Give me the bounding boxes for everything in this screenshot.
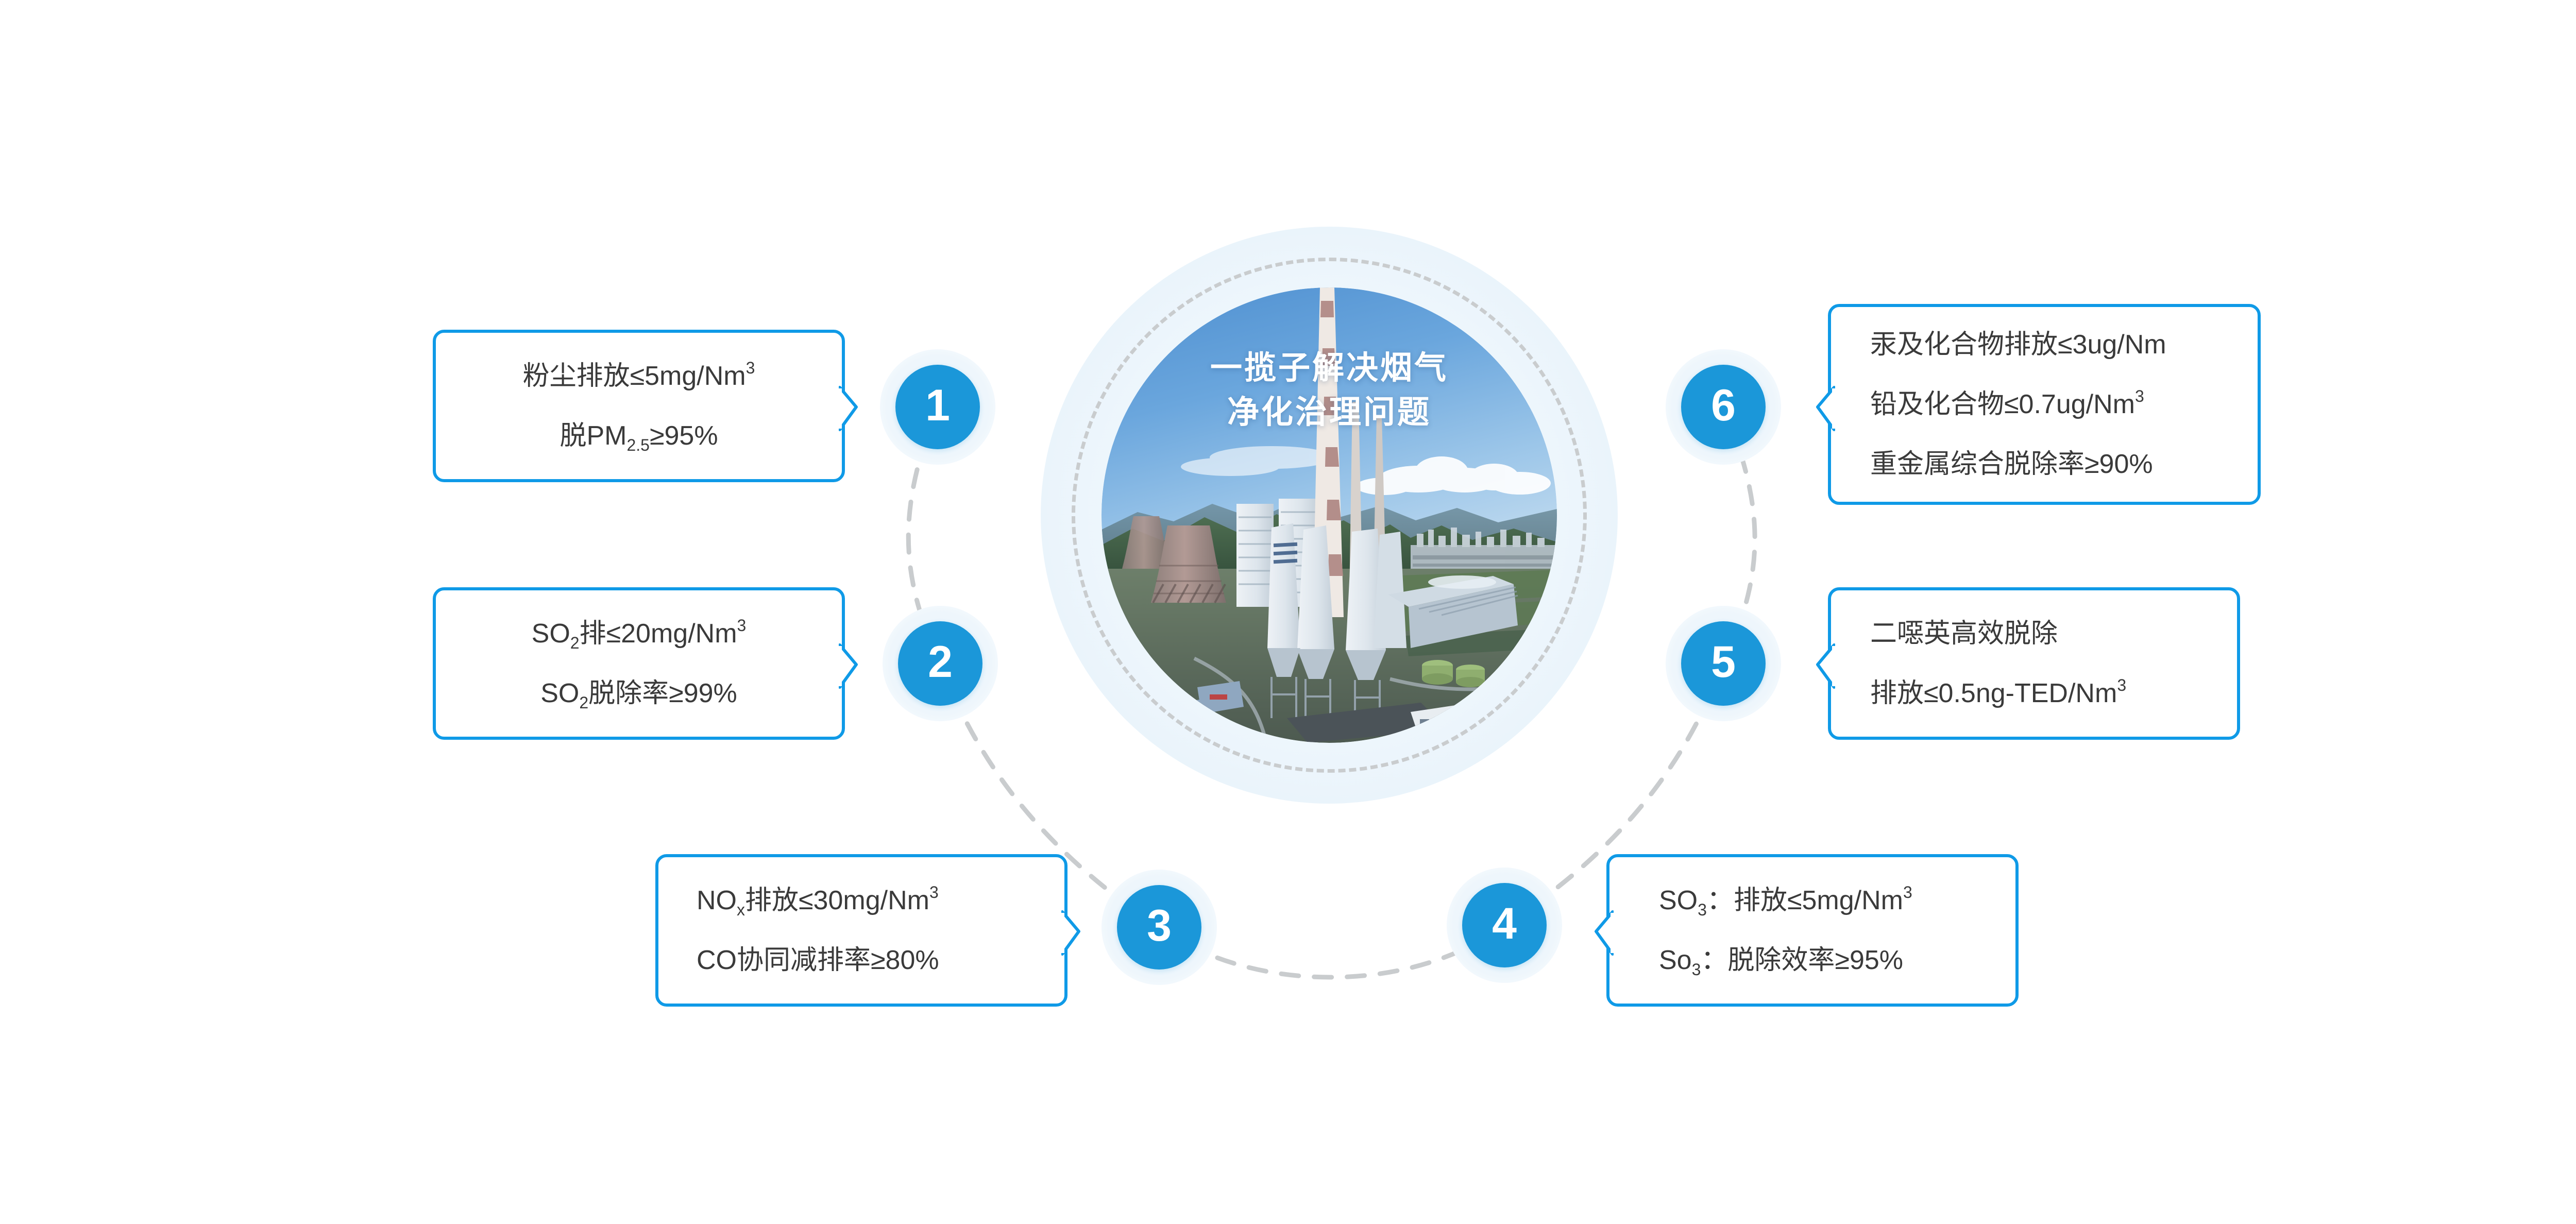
step-badge-6[interactable]: 6	[1666, 349, 1781, 465]
step-badge-1[interactable]: 1	[880, 349, 995, 465]
info-card-6-line-2: 铅及化合物≤0.7ug/Nm3	[1831, 391, 2258, 418]
info-card-5[interactable]: 二噁英高效脱除 排放≤0.5ng-TED/Nm3	[1828, 587, 2240, 740]
step-badge-3-number: 3	[1117, 885, 1201, 970]
info-card-1-line-1: 粉尘排放≤5mg/Nm3	[436, 363, 842, 389]
info-card-3-line-2: CO协同减排率≥80%	[658, 947, 1064, 974]
center-title-line-2: 净化治理问题	[1041, 390, 1618, 435]
info-card-1-notch	[839, 385, 861, 432]
step-badge-3[interactable]: 3	[1101, 870, 1217, 985]
info-card-6-notch	[1812, 385, 1835, 432]
center-title: 一揽子解决烟气 净化治理问题	[1041, 346, 1618, 434]
info-card-2-line-1: SO2排≤20mg/Nm3	[436, 620, 842, 647]
center-graphic: 一揽子解决烟气 净化治理问题	[1041, 227, 1618, 804]
info-card-4-notch	[1591, 910, 1614, 956]
info-card-5-line-1: 二噁英高效脱除	[1831, 620, 2237, 647]
info-card-3-line-1: NOx排放≤30mg/Nm3	[658, 887, 1064, 914]
info-card-2[interactable]: SO2排≤20mg/Nm3 SO2脱除率≥99%	[433, 587, 845, 740]
info-card-3[interactable]: NOx排放≤30mg/Nm3 CO协同减排率≥80%	[655, 854, 1067, 1007]
step-badge-2[interactable]: 2	[883, 606, 998, 721]
info-card-6[interactable]: 汞及化合物排放≤3ug/Nm 铅及化合物≤0.7ug/Nm3 重金属综合脱除率≥…	[1828, 304, 2261, 505]
info-card-6-line-3: 重金属综合脱除率≥90%	[1831, 451, 2258, 478]
info-card-2-line-2: SO2脱除率≥99%	[436, 680, 842, 707]
infographic-stage: 一揽子解决烟气 净化治理问题 1 2 3 4 5 6 粉尘排放≤5mg/Nm3 …	[0, 0, 2576, 1224]
step-badge-4[interactable]: 4	[1447, 868, 1562, 983]
step-badge-6-number: 6	[1681, 365, 1766, 449]
info-card-5-line-2: 排放≤0.5ng-TED/Nm3	[1831, 680, 2237, 707]
step-badge-5[interactable]: 5	[1666, 606, 1781, 721]
info-card-4-line-1: SO3：排放≤5mg/Nm3	[1609, 887, 2015, 914]
info-card-1[interactable]: 粉尘排放≤5mg/Nm3 脱PM2.5≥95%	[433, 330, 845, 482]
info-card-4-line-2: So3：脱除效率≥95%	[1609, 947, 2015, 974]
info-card-2-notch	[839, 643, 861, 689]
step-badge-1-number: 1	[895, 365, 980, 449]
info-card-1-line-2: 脱PM2.5≥95%	[436, 422, 842, 449]
step-badge-2-number: 2	[898, 621, 982, 706]
step-badge-4-number: 4	[1462, 883, 1547, 967]
info-card-3-notch	[1061, 910, 1084, 956]
info-card-6-line-1: 汞及化合物排放≤3ug/Nm	[1831, 331, 2258, 358]
info-card-5-notch	[1812, 643, 1835, 689]
center-title-line-1: 一揽子解决烟气	[1041, 346, 1618, 390]
info-card-4[interactable]: SO3：排放≤5mg/Nm3 So3：脱除效率≥95%	[1606, 854, 2019, 1007]
step-badge-5-number: 5	[1681, 621, 1766, 706]
